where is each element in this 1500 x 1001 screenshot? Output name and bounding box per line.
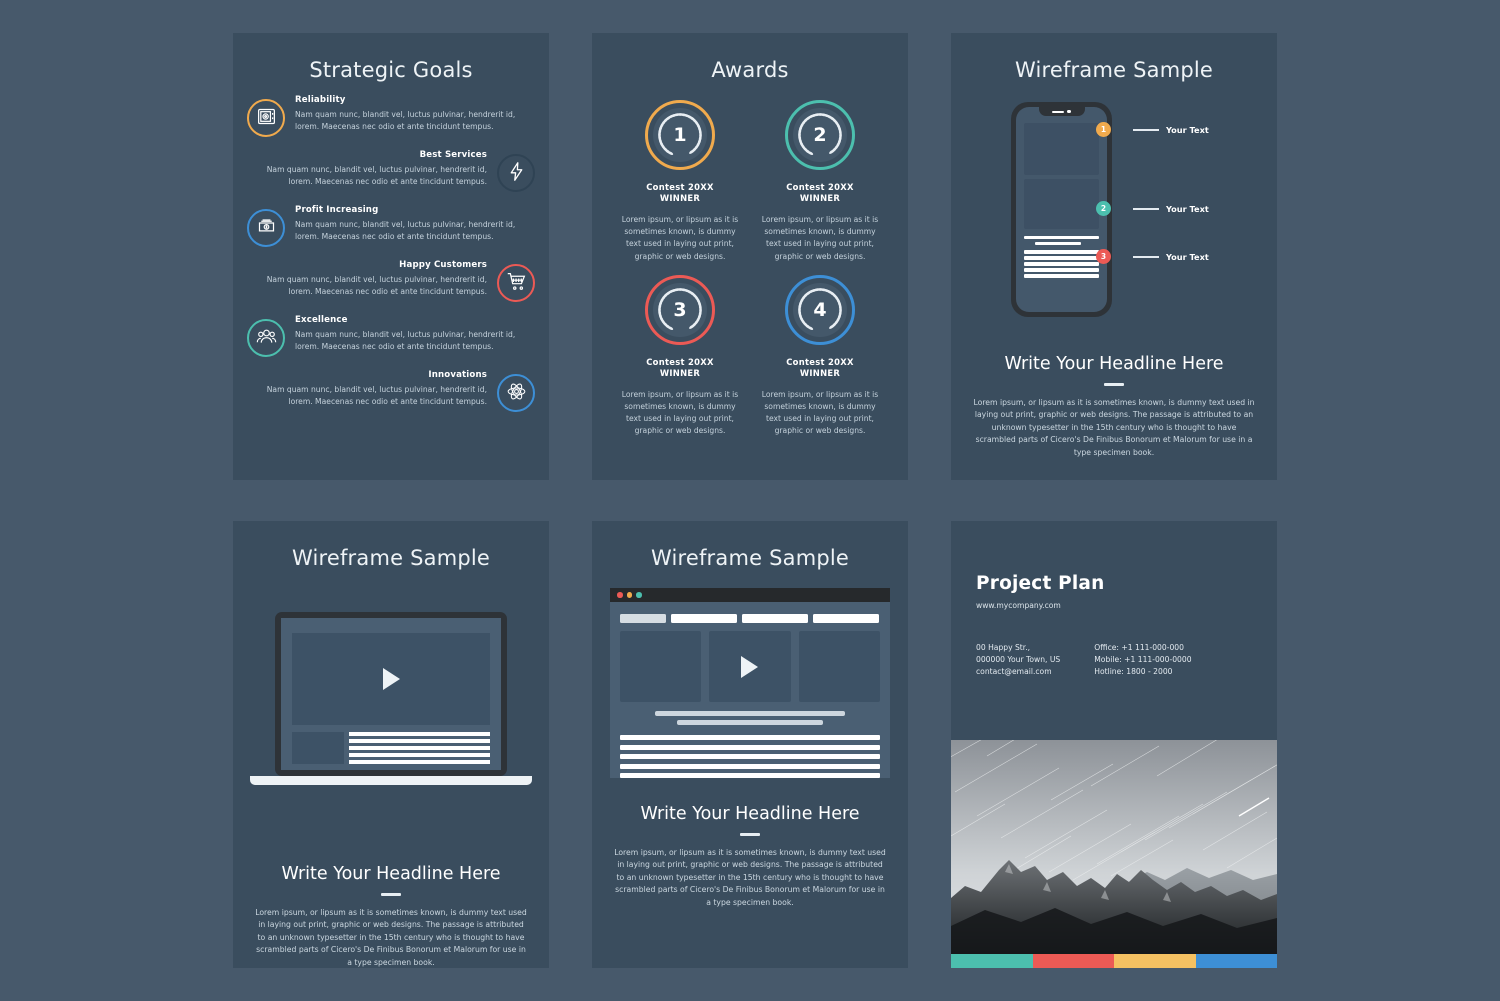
divider	[381, 893, 401, 896]
award-description: Lorem ipsum, or lipsum as it is sometime…	[610, 389, 750, 438]
browser-paragraph	[610, 725, 890, 778]
hotline-phone: Hotline: 1800 - 2000	[1094, 666, 1191, 678]
award-number: 1	[673, 124, 686, 146]
paragraph-line	[620, 735, 880, 740]
project-plan-header: Project Plan www.mycompany.com 00 Happy …	[951, 521, 1277, 678]
goal-icon-ring	[247, 319, 285, 357]
card-project-plan: Project Plan www.mycompany.com 00 Happy …	[951, 521, 1277, 968]
award-medal: 3	[645, 275, 715, 345]
leader-line	[1133, 208, 1159, 210]
page-title: Awards	[592, 33, 908, 82]
maximize-button[interactable]	[636, 592, 642, 598]
goal-item: InnovationsNam quam nunc, blandit vel, l…	[247, 370, 535, 412]
tile-left	[620, 631, 701, 702]
browser-window	[610, 588, 890, 778]
phone-text-line	[1024, 236, 1099, 239]
goal-icon-ring	[497, 154, 535, 192]
page-title: Wireframe Sample	[233, 521, 549, 570]
callout-badge-3[interactable]: 3	[1096, 249, 1111, 264]
play-icon[interactable]	[741, 656, 758, 678]
close-button[interactable]	[617, 592, 623, 598]
goal-heading: Excellence	[295, 315, 535, 325]
browser-mockup	[610, 588, 890, 778]
money-icon	[256, 216, 277, 241]
phone-text-line	[1024, 262, 1099, 265]
colorbar-segment-1	[951, 954, 1033, 968]
goal-body: InnovationsNam quam nunc, blandit vel, l…	[247, 370, 487, 408]
headline: Write Your Headline Here	[951, 354, 1277, 374]
mountain-photo	[951, 740, 1277, 954]
office-phone: Office: +1 111-000-000	[1094, 642, 1191, 654]
award-heading: Contest 20XXWINNER	[610, 182, 750, 205]
safe-icon	[256, 106, 277, 131]
goal-body: ReliabilityNam quam nunc, blandit vel, l…	[295, 95, 535, 133]
award-heading-line2: WINNER	[660, 193, 700, 203]
divider	[1104, 383, 1124, 386]
goal-item: Profit IncreasingNam quam nunc, blandit …	[247, 205, 535, 247]
card-strategic-goals: Strategic Goals ReliabilityNam quam nunc…	[233, 33, 549, 480]
mountain-photo-graphic	[951, 740, 1277, 954]
award-number: 2	[813, 124, 826, 146]
address-column: 00 Happy Str., 000000 Your Town, US cont…	[976, 642, 1060, 678]
award-disc: 1	[653, 108, 707, 162]
lead-paragraph: Lorem ipsum, or lipsum as it is sometime…	[592, 847, 908, 909]
play-icon[interactable]	[383, 668, 400, 690]
award-medal: 1	[645, 100, 715, 170]
minimize-button[interactable]	[627, 592, 633, 598]
mobile-phone: Mobile: +1 111-000-0000	[1094, 654, 1191, 666]
award-heading-line2: WINNER	[660, 368, 700, 378]
callout-badge-2[interactable]: 2	[1096, 201, 1111, 216]
phone-screen	[1016, 107, 1107, 312]
goal-heading: Best Services	[247, 150, 487, 160]
page-title: Strategic Goals	[233, 33, 549, 82]
goal-item: ExcellenceNam quam nunc, blandit vel, lu…	[247, 315, 535, 357]
page-title: Wireframe Sample	[592, 521, 908, 570]
phone-secondary-block	[1024, 179, 1099, 229]
laptop-lid	[275, 612, 507, 776]
goal-item: Best ServicesNam quam nunc, blandit vel,…	[247, 150, 535, 192]
phone-text-line	[1024, 268, 1099, 271]
colorbar-segment-2	[1033, 954, 1115, 968]
goal-icon-ring	[497, 264, 535, 302]
goal-heading: Reliability	[295, 95, 535, 105]
award-item: 4Contest 20XXWINNERLorem ipsum, or lipsu…	[750, 275, 890, 438]
tab-item[interactable]	[742, 614, 808, 623]
headline: Write Your Headline Here	[233, 864, 549, 884]
goal-heading: Profit Increasing	[295, 205, 535, 215]
tile-right	[799, 631, 880, 702]
divider	[740, 833, 760, 836]
award-heading: Contest 20XXWINNER	[750, 182, 890, 205]
goal-icon-ring	[247, 209, 285, 247]
goal-body: ExcellenceNam quam nunc, blandit vel, lu…	[295, 315, 535, 353]
brand-colorbar	[951, 954, 1277, 968]
paragraph-line	[620, 773, 880, 778]
lead-paragraph: Lorem ipsum, or lipsum as it is sometime…	[951, 397, 1277, 459]
card-laptop-wireframe: Wireframe Sample	[233, 521, 549, 968]
award-heading-line1: Contest 20XX	[646, 182, 714, 192]
award-item: 3Contest 20XXWINNERLorem ipsum, or lipsu…	[610, 275, 750, 438]
award-item: 1Contest 20XXWINNERLorem ipsum, or lipsu…	[610, 100, 750, 263]
colorbar-segment-4	[1196, 954, 1278, 968]
address-line-1: 00 Happy Str.,	[976, 642, 1060, 654]
laptop-mockup	[233, 592, 549, 850]
award-number: 4	[813, 299, 826, 321]
goal-description: Nam quam nunc, blandit vel, luctus pulvi…	[247, 384, 487, 408]
award-description: Lorem ipsum, or lipsum as it is sometime…	[750, 389, 890, 438]
phone-text-line	[1024, 274, 1099, 277]
award-heading: Contest 20XXWINNER	[610, 357, 750, 380]
goal-description: Nam quam nunc, blandit vel, luctus pulvi…	[295, 109, 535, 133]
contact-columns: 00 Happy Str., 000000 Your Town, US cont…	[976, 642, 1252, 678]
speaker-icon	[1052, 111, 1064, 113]
paragraph-line	[620, 745, 880, 750]
laptop-footer-row	[292, 732, 490, 764]
paragraph-line	[620, 764, 880, 769]
phone-column: Office: +1 111-000-000 Mobile: +1 111-00…	[1094, 642, 1191, 678]
browser-tiles	[610, 623, 890, 702]
address-line-2: 000000 Your Town, US	[976, 654, 1060, 666]
card-phone-wireframe: Wireframe Sample	[951, 33, 1277, 480]
goal-heading: Innovations	[247, 370, 487, 380]
goal-item: Happy CustomersNam quam nunc, blandit ve…	[247, 260, 535, 302]
awards-grid: 1Contest 20XXWINNERLorem ipsum, or lipsu…	[592, 82, 908, 438]
award-heading-line2: WINNER	[800, 193, 840, 203]
page-title: Wireframe Sample	[951, 33, 1277, 82]
phone-text-line	[1024, 256, 1099, 259]
phone-text-line	[1024, 250, 1099, 253]
card-awards: Awards 1Contest 20XXWINNERLorem ipsum, o…	[592, 33, 908, 480]
shopping-cart-icon	[506, 271, 527, 296]
callout-label: Your Text	[1166, 125, 1209, 135]
goal-icon-ring	[497, 374, 535, 412]
goal-description: Nam quam nunc, blandit vel, luctus pulvi…	[295, 329, 535, 353]
tab-item[interactable]	[813, 614, 879, 623]
award-disc: 3	[653, 283, 707, 337]
people-group-icon	[256, 326, 277, 351]
award-heading: Contest 20XXWINNER	[750, 357, 890, 380]
laptop-screen	[281, 618, 501, 770]
paragraph-line	[620, 754, 880, 759]
laptop-thumb-block	[292, 732, 344, 764]
award-description: Lorem ipsum, or lipsum as it is sometime…	[610, 214, 750, 263]
tile-video	[709, 631, 790, 702]
goal-item: ReliabilityNam quam nunc, blandit vel, l…	[247, 95, 535, 137]
colorbar-segment-3	[1114, 954, 1196, 968]
award-heading-line1: Contest 20XX	[646, 357, 714, 367]
laptop-text-lines	[349, 732, 490, 764]
goal-body: Profit IncreasingNam quam nunc, blandit …	[295, 205, 535, 243]
page-title: Project Plan	[976, 573, 1252, 594]
goal-description: Nam quam nunc, blandit vel, luctus pulvi…	[247, 164, 487, 188]
browser-tabs	[610, 602, 890, 623]
tab-active[interactable]	[620, 614, 666, 623]
award-disc: 2	[793, 108, 847, 162]
phone-notch	[1039, 107, 1085, 116]
browser-caption-lines	[610, 702, 890, 725]
lightning-bolt-icon	[506, 161, 527, 186]
card-browser-wireframe: Wireframe Sample	[592, 521, 908, 968]
goals-list: ReliabilityNam quam nunc, blandit vel, l…	[233, 95, 549, 412]
award-number: 3	[673, 299, 686, 321]
callout-3: Your Text	[1133, 252, 1209, 262]
goal-description: Nam quam nunc, blandit vel, luctus pulvi…	[247, 274, 487, 298]
award-disc: 4	[793, 283, 847, 337]
callout-label: Your Text	[1166, 204, 1209, 214]
award-medal: 4	[785, 275, 855, 345]
browser-titlebar	[610, 588, 890, 602]
leader-line	[1133, 256, 1159, 258]
award-heading-line1: Contest 20XX	[786, 182, 854, 192]
laptop-base	[250, 776, 532, 785]
email-address[interactable]: contact@email.com	[976, 666, 1060, 678]
caption-line	[655, 711, 845, 716]
camera-icon	[1067, 110, 1070, 113]
callout-1: Your Text	[1133, 125, 1209, 135]
callout-badge-1[interactable]: 1	[1096, 122, 1111, 137]
slide-deck-board: Strategic Goals ReliabilityNam quam nunc…	[0, 0, 1500, 1001]
award-heading-line1: Contest 20XX	[786, 357, 854, 367]
award-description: Lorem ipsum, or lipsum as it is sometime…	[750, 214, 890, 263]
tab-item[interactable]	[671, 614, 737, 623]
goal-body: Best ServicesNam quam nunc, blandit vel,…	[247, 150, 487, 188]
phone-hero-block	[1024, 123, 1099, 175]
leader-line	[1133, 129, 1159, 131]
goal-heading: Happy Customers	[247, 260, 487, 270]
atom-icon	[506, 381, 527, 406]
headline: Write Your Headline Here	[592, 804, 908, 824]
lead-paragraph: Lorem ipsum, or lipsum as it is sometime…	[233, 907, 549, 968]
phone-text-line	[1035, 242, 1082, 245]
laptop-video-area	[292, 633, 490, 725]
callout-2: Your Text	[1133, 204, 1209, 214]
callout-label: Your Text	[1166, 252, 1209, 262]
award-item: 2Contest 20XXWINNERLorem ipsum, or lipsu…	[750, 100, 890, 263]
phone-mockup: 1Your Text2Your Text3Your Text	[951, 94, 1277, 340]
goal-icon-ring	[247, 99, 285, 137]
website-url[interactable]: www.mycompany.com	[976, 601, 1252, 610]
goal-body: Happy CustomersNam quam nunc, blandit ve…	[247, 260, 487, 298]
award-heading-line2: WINNER	[800, 368, 840, 378]
award-medal: 2	[785, 100, 855, 170]
goal-description: Nam quam nunc, blandit vel, luctus pulvi…	[295, 219, 535, 243]
